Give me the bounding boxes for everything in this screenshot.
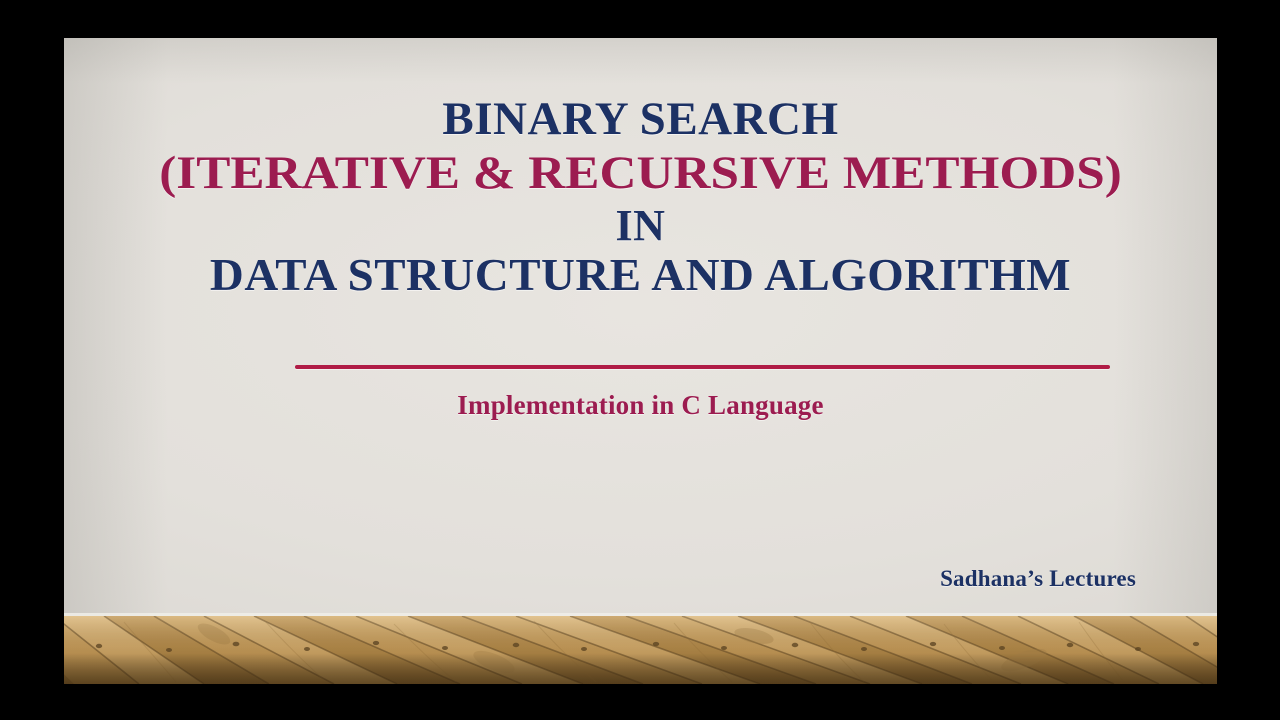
title-line-iterative-recursive-methods: (ITERATIVE & RECURSIVE METHODS) [64, 150, 1217, 197]
title-line-data-structure-and-algorithm: DATA STRUCTURE AND ALGORITHM [64, 252, 1217, 298]
title-divider-rule [295, 365, 1110, 369]
slide-title-block: BINARY SEARCH (ITERATIVE & RECURSIVE MET… [64, 96, 1217, 298]
title-line-binary-search: BINARY SEARCH [64, 96, 1217, 143]
video-frame: BINARY SEARCH (ITERATIVE & RECURSIVE MET… [0, 0, 1280, 720]
title-line-in: IN [64, 204, 1217, 248]
channel-credit-label: Sadhana’s Lectures [940, 566, 1136, 592]
slide-subtitle: Implementation in C Language [64, 390, 1217, 421]
presentation-slide: BINARY SEARCH (ITERATIVE & RECURSIVE MET… [64, 38, 1217, 684]
wooden-floor-strip [64, 616, 1217, 684]
wooden-floor-graphic [64, 616, 1217, 684]
